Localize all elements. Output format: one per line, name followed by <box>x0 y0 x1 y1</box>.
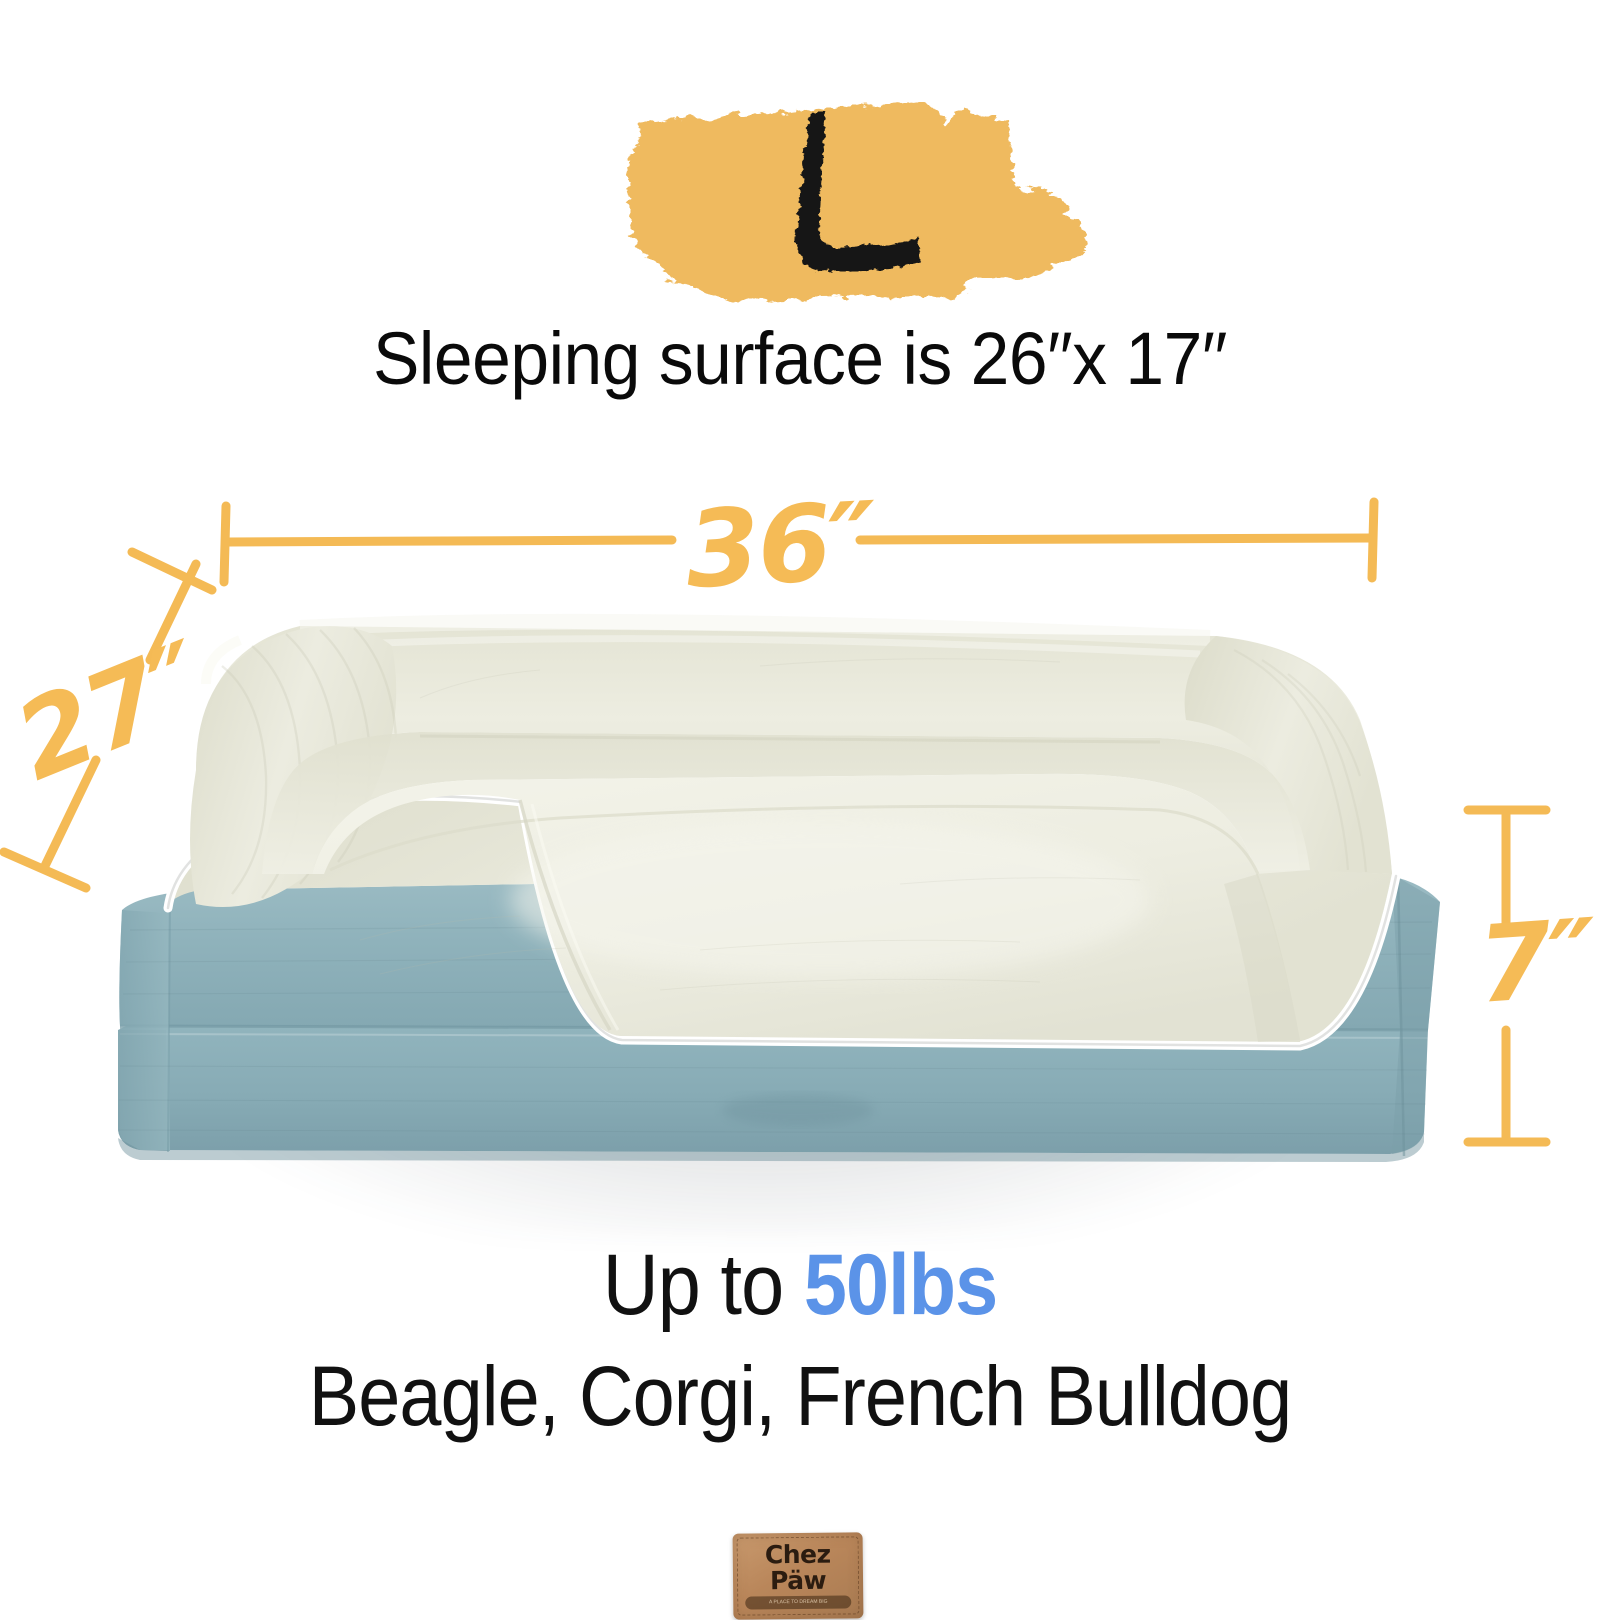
height-dimension-label: 7″ <box>1474 896 1599 1027</box>
suggested-breeds: Beagle, Corgi, French Bulldog <box>80 1348 1520 1445</box>
handwritten-L-icon <box>755 91 955 291</box>
brand-patch: Chez Päw A PLACE TO DREAM BIG <box>733 1532 864 1619</box>
size-letter-L <box>610 68 1100 313</box>
brand-name-line2: Päw <box>733 1567 863 1593</box>
product-illustration: Chez Päw A PLACE TO DREAM BIG <box>0 470 1600 1230</box>
weight-capacity: Up to 50lbs <box>80 1236 1520 1335</box>
width-dimension-label: 36″ <box>683 479 878 612</box>
brand-name-line1: Chez <box>733 1541 863 1567</box>
weight-value: 50lbs <box>804 1237 997 1333</box>
weight-prefix: Up to <box>603 1237 804 1333</box>
page-title: Sleeping surface is 26′′x 17′′ <box>48 316 1552 401</box>
size-badge <box>610 68 1100 313</box>
infographic-canvas: Sleeping surface is 26′′x 17′′ <box>0 0 1600 1600</box>
brand-tagline: A PLACE TO DREAM BIG <box>745 1595 851 1609</box>
